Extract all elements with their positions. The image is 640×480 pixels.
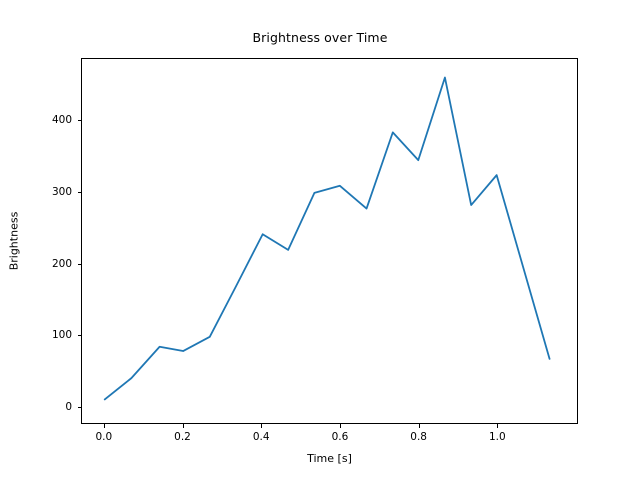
x-tick-mark	[183, 424, 184, 428]
y-tick-mark	[78, 192, 82, 193]
x-tick-label: 0.8	[410, 431, 427, 443]
x-tick-mark	[104, 424, 105, 428]
y-tick-label: 0	[34, 401, 72, 413]
x-axis-label: Time [s]	[81, 452, 578, 465]
x-tick-label: 0.0	[95, 431, 112, 443]
y-tick-mark	[78, 407, 82, 408]
x-tick-mark	[261, 424, 262, 428]
x-tick-label: 0.2	[174, 431, 191, 443]
series-line-brightness	[105, 78, 550, 400]
y-tick-mark	[78, 335, 82, 336]
x-tick-mark	[419, 424, 420, 428]
y-tick-mark	[78, 120, 82, 121]
y-tick-label: 100	[34, 329, 72, 341]
y-axis-label: Brightness	[8, 212, 21, 271]
y-tick-label: 300	[34, 186, 72, 198]
y-tick-label: 200	[34, 258, 72, 270]
x-tick-label: 0.4	[253, 431, 270, 443]
plot-axes	[81, 58, 578, 424]
y-tick-mark	[78, 264, 82, 265]
x-tick-label: 0.6	[332, 431, 349, 443]
x-tick-mark	[497, 424, 498, 428]
chart-title: Brightness over Time	[0, 30, 640, 45]
y-tick-label: 400	[34, 114, 72, 126]
figure-canvas: Brightness over Time 0100200300400 0.00.…	[0, 0, 640, 480]
x-tick-label: 1.0	[489, 431, 506, 443]
x-tick-mark	[340, 424, 341, 428]
line-chart-svg	[82, 59, 577, 423]
